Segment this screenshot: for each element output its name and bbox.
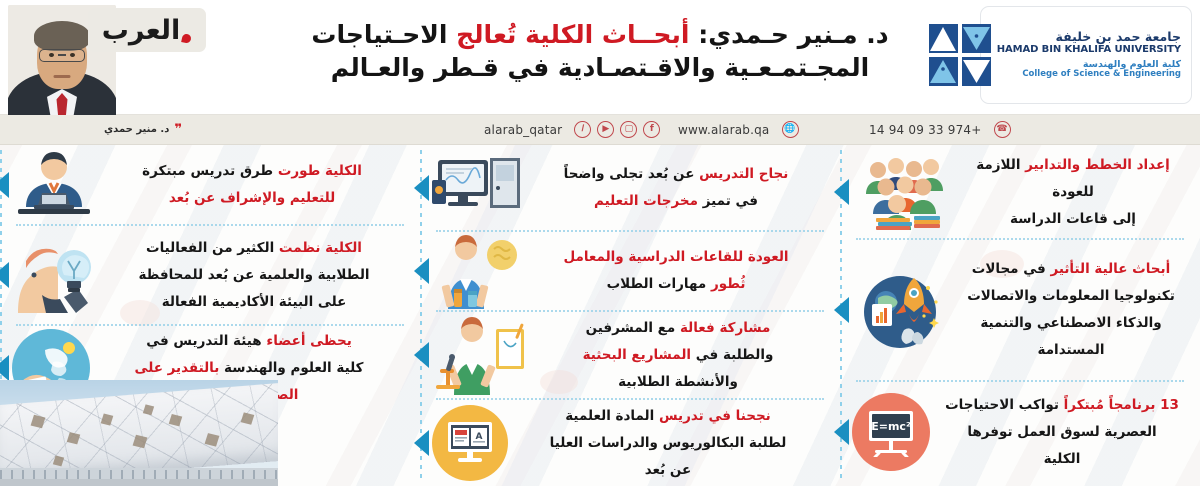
globe-icon: 🌐 (782, 121, 799, 138)
youtube-icon[interactable]: ▶ (597, 121, 614, 138)
hbku-logo[interactable]: جامعة حمد بن خليفة HAMAD BIN KHALIFA UNI… (980, 6, 1192, 104)
item-line: يحظى أعضاء هيئة التدريس في (90, 328, 408, 355)
university-name-arabic: جامعة حمد بن خليفة (997, 30, 1181, 44)
item-line: 13 برنامجاً مُبتكراً تواكب الاحتياجات (936, 392, 1188, 419)
idea-head-bulb-icon (12, 237, 100, 313)
byline: ❞ د. منير حمدي (104, 123, 182, 136)
item-text: الكلية نظمت الكثير من الفعاليات الطلابية… (100, 235, 408, 316)
phone-text: +974 33 09 94 14 (869, 123, 988, 137)
item-line: كلية العلوم والهندسة بالتقدير على (90, 355, 408, 382)
phone-icon: ☎ (994, 121, 1011, 138)
headline-line-1: د. مـنير حـمدي: أبحــاث الكلية تُعالج ال… (248, 18, 952, 51)
social-handle-text: alarab_qatar (484, 123, 568, 137)
social-bar: ❞ د. منير حمدي f ▢ ▶ 𝑙 alarab_qatar 🌐 ww… (0, 115, 1200, 145)
item-left-1: الكلية طورت طرق تدريس مبتكرة للتعليم وال… (0, 146, 420, 224)
arrow-icon (0, 172, 9, 198)
headline-part-1: د. مـنير حـمدي: (698, 20, 888, 49)
item-line: إعداد الخطط والتدابير اللازمة للعودة (958, 152, 1188, 206)
item-text: نجحنا في تدريس المادة العلمية لطلبة البك… (508, 403, 828, 484)
group-of-students-icon (852, 154, 952, 230)
website-group[interactable]: 🌐 www.alarab.qa (678, 121, 799, 138)
phone-group[interactable]: ☎ +974 33 09 94 14 (869, 121, 1011, 138)
item-middle-2: العودة للقاعات الدراسية والمعامل ثُطور م… (420, 232, 840, 310)
quote-icon: ❞ (174, 123, 182, 136)
item-line: والأنشطة الطلابية (528, 369, 828, 396)
item-middle-4: نجحنا في تدريس المادة العلمية لطلبة البك… (420, 400, 840, 486)
item-line: المستدامة (954, 337, 1188, 364)
item-line: لطلبة البكالوريوس والدراسات العليا (508, 430, 828, 457)
website-text: www.alarab.qa (678, 123, 776, 137)
item-right-2: أبحاث عالية التأثير في مجالات تكنولوجيا … (840, 240, 1200, 380)
campus-building-photo (0, 380, 278, 486)
item-line: الكلية نظمت الكثير من الفعاليات (100, 235, 408, 262)
headline-line-2: المجـتمـعـية والاقـتصـادية في قـطر والعـ… (248, 51, 952, 84)
alarab-logo[interactable]: العرب (88, 8, 206, 52)
twitter-icon[interactable]: 𝑙 (574, 121, 591, 138)
item-line: على البيئة الأكاديمية الفعالة (100, 289, 408, 316)
headline: د. مـنير حـمدي: أبحــاث الكلية تُعالج ال… (248, 18, 952, 84)
hbku-emblem-icon (929, 24, 991, 86)
item-line: العصرية لسوق العمل توفرها (936, 419, 1188, 446)
item-text: نجاح التدريس عن بُعد تجلى واضحاً في تميز… (524, 161, 828, 215)
column-left: الكلية طورت طرق تدريس مبتكرة للتعليم وال… (0, 146, 420, 486)
svg-text:A: A (476, 432, 483, 442)
headline-part-2: الاحـتياجات (311, 20, 447, 49)
item-line: أبحاث عالية التأثير في مجالات (954, 256, 1188, 283)
item-text: مشاركة فعالة مع المشرفين والطلبة في المش… (528, 315, 828, 396)
item-line: في تميز مخرجات التعليم (524, 188, 828, 215)
monitor-door-icon (432, 156, 524, 220)
item-line: نجحنا في تدريس المادة العلمية (508, 403, 828, 430)
instagram-icon[interactable]: ▢ (620, 121, 637, 138)
item-line: نجاح التدريس عن بُعد تجلى واضحاً (524, 161, 828, 188)
item-middle-3: مشاركة فعالة مع المشرفين والطلبة في المش… (420, 312, 840, 398)
arrow-icon (0, 262, 9, 288)
arrow-icon (0, 355, 9, 381)
svg-text:E=mc²: E=mc² (871, 420, 911, 433)
facebook-icon[interactable]: f (643, 121, 660, 138)
headline-highlight: أبحــاث الكلية تُعالج (456, 20, 689, 49)
item-line: والذكاء الاصطناعي والتنمية (954, 310, 1188, 337)
item-line: الطلابية والعلمية عن بُعد للمحافظة (100, 262, 408, 289)
item-line: تكنولوجيا المعلومات والاتصالات (954, 283, 1188, 310)
item-line: للتعليم والإشراف عن بُعد (96, 185, 408, 212)
item-left-2: الكلية نظمت الكثير من الفعاليات الطلابية… (0, 226, 420, 324)
social-handles[interactable]: f ▢ ▶ 𝑙 alarab_qatar (484, 121, 660, 138)
elearning-monitor-icon: A (432, 405, 508, 481)
logo-comma-accent (181, 33, 192, 44)
rocket-globe-icon (852, 268, 948, 352)
column-right: إعداد الخطط والتدابير اللازمة للعودة إلى… (840, 146, 1200, 486)
item-right-1: إعداد الخطط والتدابير اللازمة للعودة إلى… (840, 146, 1200, 238)
item-line: والطلبة في المشاريع البحثية (528, 342, 828, 369)
item-line: الكلية (936, 446, 1188, 473)
item-line: إلى قاعات الدراسة (958, 206, 1188, 233)
header: العرب د. مـنير حـمدي: أبحــاث الكلية تُع… (0, 0, 1200, 115)
item-text: 13 برنامجاً مُبتكراً تواكب الاحتياجات ال… (930, 392, 1188, 473)
item-text: الكلية طورت طرق تدريس مبتكرة للتعليم وال… (96, 158, 408, 212)
item-line: الكلية طورت طرق تدريس مبتكرة (96, 158, 408, 185)
item-line: ثُطور مهارات الطلاب (524, 271, 828, 298)
byline-text: د. منير حمدي (104, 124, 169, 135)
content-columns: إعداد الخطط والتدابير اللازمة للعودة إلى… (0, 146, 1200, 486)
alarab-logo-text: العرب (102, 15, 181, 46)
lab-student-icon (432, 233, 524, 309)
infographic-page: العرب د. مـنير حـمدي: أبحــاث الكلية تُع… (0, 0, 1200, 486)
university-name-english: HAMAD BIN KHALIFA UNIVERSITY (997, 44, 1181, 55)
item-text: إعداد الخطط والتدابير اللازمة للعودة إلى… (952, 152, 1188, 233)
researcher-microscope-icon (432, 315, 528, 395)
blackboard-emc2-icon: E=mc² (852, 393, 930, 471)
item-text: أبحاث عالية التأثير في مجالات تكنولوجيا … (948, 256, 1188, 364)
column-middle: نجاح التدريس عن بُعد تجلى واضحاً في تميز… (420, 146, 840, 486)
teacher-laptop-icon (12, 151, 96, 219)
item-line: عن بُعد (508, 457, 828, 484)
item-right-3: 13 برنامجاً مُبتكراً تواكب الاحتياجات ال… (840, 382, 1200, 482)
item-middle-1: نجاح التدريس عن بُعد تجلى واضحاً في تميز… (420, 146, 840, 230)
item-text: العودة للقاعات الدراسية والمعامل ثُطور م… (524, 244, 828, 298)
item-line: العودة للقاعات الدراسية والمعامل (524, 244, 828, 271)
college-name-english: College of Science & Engineering (997, 70, 1181, 80)
item-line: مشاركة فعالة مع المشرفين (528, 315, 828, 342)
